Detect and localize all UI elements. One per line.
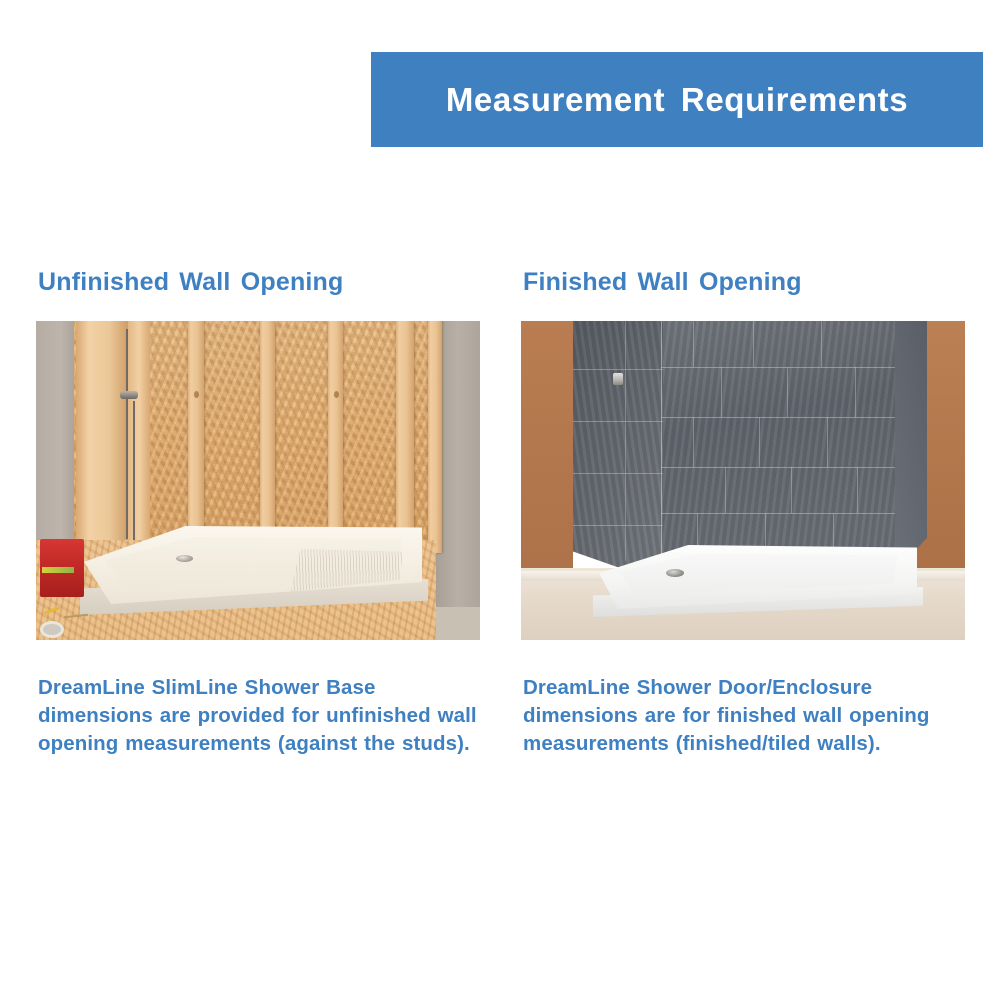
column-finished-wall-opening: Finished Wall Opening [521, 268, 967, 758]
grout-line [693, 417, 694, 467]
wall-stud [188, 321, 204, 553]
wall-stud [396, 321, 414, 553]
drywall-left-panel [36, 321, 78, 553]
drywall-right-panel [436, 321, 480, 607]
wall-stud [260, 321, 275, 553]
grout-line [573, 369, 663, 370]
grout-line [693, 321, 694, 367]
grout-line [827, 417, 828, 467]
grout-line [725, 467, 726, 513]
section-heading-unfinished: Unfinished Wall Opening [38, 268, 482, 297]
column-unfinished-wall-opening: Unfinished Wall Opening DreamLine SlimLi… [36, 268, 482, 758]
tiled-left-wall [573, 321, 663, 583]
wall-corner-seam [661, 321, 662, 561]
grout-line [661, 367, 895, 368]
grout-line [573, 421, 663, 422]
wall-stud [428, 321, 442, 553]
shower-supply-pipe [133, 401, 135, 541]
wall-stud [328, 321, 343, 553]
grout-line [821, 321, 822, 367]
grout-line [573, 525, 663, 526]
grout-line [661, 417, 895, 418]
header-banner: Measurement Requirements [371, 52, 983, 147]
grout-line [791, 467, 792, 513]
grout-line [787, 367, 788, 417]
shower-supply-pipe [126, 329, 128, 539]
tape-measure [40, 621, 64, 638]
tiled-right-wall [895, 321, 927, 573]
shower-valve-trim [613, 373, 623, 385]
grout-line [721, 367, 722, 417]
toolbox-label [42, 567, 74, 573]
corner-post [76, 321, 128, 559]
photo-finished-wall-opening [521, 321, 965, 640]
photo-unfinished-wall-opening [36, 321, 480, 640]
shower-drain [176, 555, 193, 562]
page-title: Measurement Requirements [446, 81, 908, 119]
section-heading-finished: Finished Wall Opening [523, 268, 967, 297]
corner-post-secondary [128, 321, 150, 559]
grout-line [753, 321, 754, 367]
grout-line [857, 467, 858, 513]
shower-drain [666, 569, 684, 577]
caption-unfinished: DreamLine SlimLine Shower Base dimension… [38, 674, 482, 758]
grout-line [855, 367, 856, 417]
caption-finished: DreamLine Shower Door/Enclosure dimensio… [523, 674, 967, 758]
grout-line [573, 473, 663, 474]
shower-valve [120, 391, 138, 399]
grout-line [661, 467, 895, 468]
grout-line [759, 417, 760, 467]
painted-wall-left [521, 321, 573, 583]
grout-line [625, 321, 626, 561]
